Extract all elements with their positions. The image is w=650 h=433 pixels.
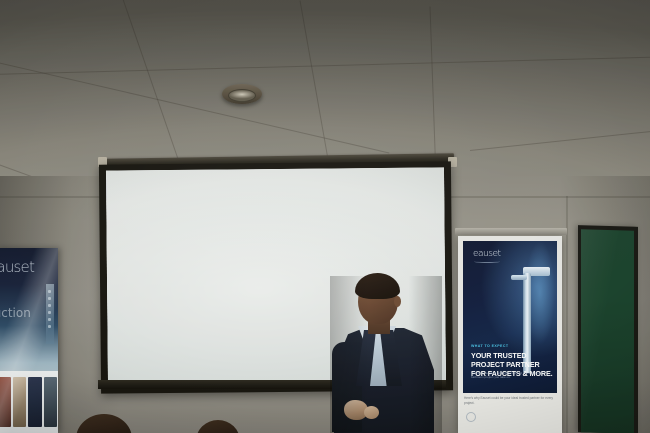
seal-bottom-label: YEARS WARRANTY [160, 346, 206, 350]
banner-left-sheen [0, 248, 58, 433]
presenter [330, 276, 442, 433]
logo-swoosh-icon [386, 190, 430, 195]
poster-logo-swoosh-icon [474, 260, 500, 263]
light-lens [228, 89, 256, 102]
slide-title: The Seal of Assurance [107, 231, 445, 245]
poster-footer-mark-icon [466, 412, 476, 422]
presenter-ear [394, 296, 401, 307]
poster-artwork: eauset WHAT TO EXPECT YOUR TRUSTED PROJE… [463, 241, 557, 393]
seal-number: 10 [159, 322, 205, 341]
door-sheen [581, 229, 634, 433]
presentation-scene: eau bathing solutions pvt. ltd. eauset T… [0, 0, 650, 433]
ceiling-light-icon [222, 84, 262, 106]
warranty-seal-badge: UP TO 10 YEARS WARRANTY [159, 306, 206, 360]
presenter-hair [355, 273, 400, 299]
green-door[interactable] [578, 225, 638, 433]
slide-logo-box: eauset [372, 171, 444, 199]
door-panel [581, 229, 634, 433]
poster-logo-text: eauset [473, 249, 501, 259]
poster-footer-text: Here's why Eauset could be your ideal tr… [464, 396, 556, 406]
slide-header-text: eau bathing solutions pvt. ltd. [123, 183, 248, 194]
slide-body-text: Our confidence in outstanding quality is… [139, 248, 423, 273]
poster-subtext: Specified, supplied and supported end to… [471, 371, 549, 380]
right-poster: eauset WHAT TO EXPECT YOUR TRUSTED PROJE… [458, 236, 562, 433]
poster-kicker-text: WHAT TO EXPECT [471, 344, 508, 348]
left-banner: eauset duction [0, 248, 58, 433]
seal-top-label: UP TO [159, 315, 205, 319]
poster-mount-bar [455, 228, 567, 235]
faucet-handle [511, 275, 527, 280]
presenter-hand-second [364, 406, 379, 419]
